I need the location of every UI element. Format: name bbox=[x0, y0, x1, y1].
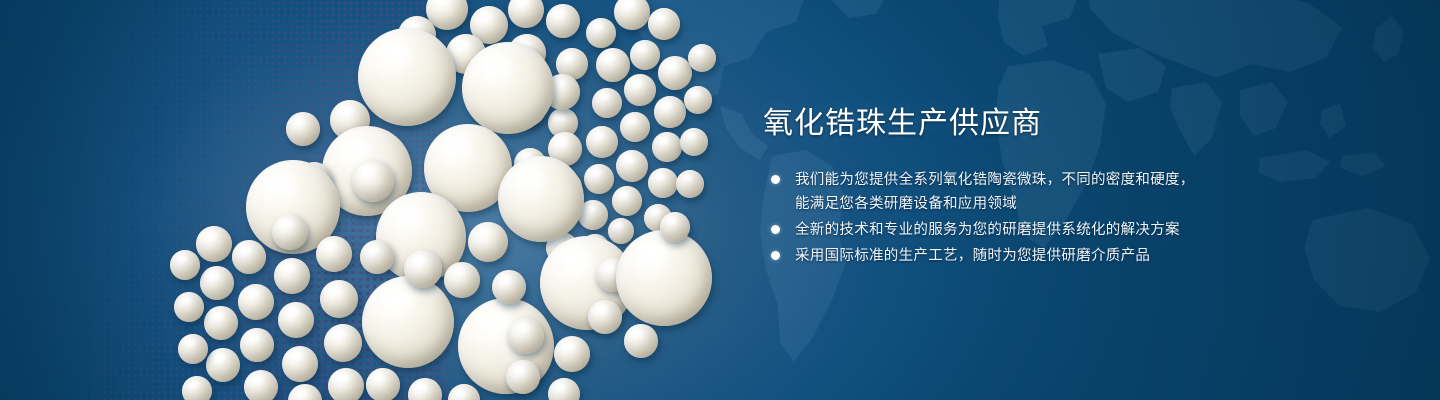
feature-bullet-list: 我们能为您提供全系列氧化锆陶瓷微珠，不同的密度和硬度， 能满足您各类研磨设备和应… bbox=[763, 168, 1283, 268]
hero-banner: 氧化锆珠生产供应商 我们能为您提供全系列氧化锆陶瓷微珠，不同的密度和硬度， 能满… bbox=[0, 0, 1440, 400]
bullet-dot-icon bbox=[771, 251, 780, 260]
bullet-dot-icon bbox=[771, 175, 780, 184]
page-title: 氧化锆珠生产供应商 bbox=[763, 104, 1283, 144]
bullet-text-line-1: 全新的技术和专业的服务为您的研磨提供系统化的解决方案 bbox=[795, 222, 1180, 238]
bullet-text-line-1: 我们能为您提供全系列氧化锆陶瓷微珠，不同的密度和硬度， bbox=[795, 172, 1195, 188]
list-item: 我们能为您提供全系列氧化锆陶瓷微珠，不同的密度和硬度， 能满足您各类研磨设备和应… bbox=[763, 168, 1283, 216]
bullet-text-line-1: 采用国际标准的生产工艺，随时为您提供研磨介质产品 bbox=[795, 248, 1150, 264]
bullet-dot-icon bbox=[771, 225, 780, 234]
banner-copy: 氧化锆珠生产供应商 我们能为您提供全系列氧化锆陶瓷微珠，不同的密度和硬度， 能满… bbox=[763, 104, 1283, 270]
list-item: 采用国际标准的生产工艺，随时为您提供研磨介质产品 bbox=[763, 244, 1283, 268]
bullet-text-line-2: 能满足您各类研磨设备和应用领域 bbox=[795, 192, 1283, 216]
list-item: 全新的技术和专业的服务为您的研磨提供系统化的解决方案 bbox=[763, 218, 1283, 242]
